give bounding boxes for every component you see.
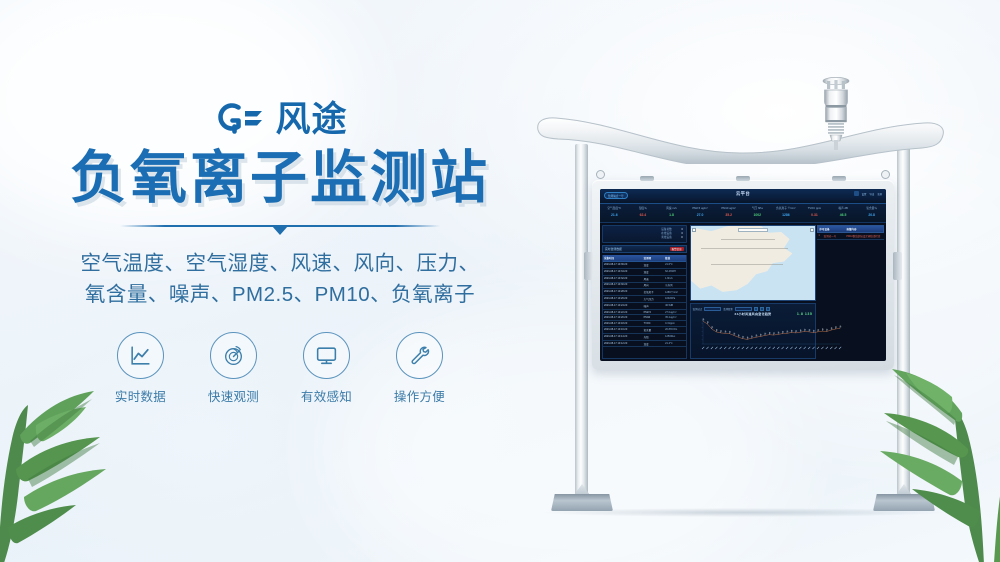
column-header: 数值 <box>664 255 685 261</box>
device-stat-box: 设备总数3在线设备3离线设备0 <box>602 225 687 243</box>
display-screen[interactable]: 监测站点一号 云平台 设置 导出 全屏 空气温度℃21.6湿度％62.4风速 m… <box>600 189 886 361</box>
metric-name: PM2.5 ug/m³ <box>686 207 715 211</box>
metric-name: 氧含量％ <box>857 207 886 211</box>
mount-tab-2 <box>736 176 750 181</box>
support-post-right <box>897 144 910 499</box>
monitor-icon <box>303 332 350 379</box>
metric-card[interactable]: 氧含量％20.8 <box>857 204 886 222</box>
table-cell: 2023-08-17 10:32:20 <box>603 276 643 282</box>
title-divider <box>120 222 440 238</box>
dashboard-body: 设备总数3在线设备3离线设备0 实时监测数据 报警信息 采集时间监测项数值202… <box>600 223 886 361</box>
feature-label: 操作方便 <box>388 386 452 405</box>
metric-card[interactable]: PM10 ug/m³35.2 <box>714 204 743 222</box>
table-cell: PM2.5 <box>643 310 664 315</box>
side-mount-left <box>584 252 593 280</box>
toolbar-label-2[interactable]: 全屏 <box>877 192 882 196</box>
wrench-icon <box>396 332 443 379</box>
chart-select-right-label: 监测要素 <box>723 307 733 311</box>
chart-query-button[interactable] <box>754 307 758 311</box>
table-cell: 噪声 <box>643 303 664 309</box>
chart-station-select[interactable] <box>704 307 721 311</box>
trend-chart-panel: 监测站点 监测要素 24小时风速风向变化趋势 1.8 135 <box>690 303 817 359</box>
table-cell: 2023-08-17 10:16:20 <box>603 327 643 333</box>
alarm-table-body[interactable]: 1监测站一号PM10数值超出设定阈值请检查 <box>817 233 884 240</box>
data-table-header-row: 采集时间监测项数值 <box>603 255 686 262</box>
table-cell: 湿度 <box>643 269 664 275</box>
map-landmass <box>690 225 817 301</box>
monitoring-station-assembly: 监测站点一号 云平台 设置 导出 全屏 空气温度℃21.6湿度％62.4风速 m… <box>520 60 990 530</box>
alarm-row[interactable]: 1监测站一号PM10数值超出设定阈值请检查 <box>817 233 884 240</box>
table-cell: 2023-08-17 10:24:20 <box>603 303 643 309</box>
feature-label: 快速观测 <box>202 386 266 405</box>
table-cell: 2023-08-17 10:20:20 <box>603 315 643 320</box>
column-header: 采集时间 <box>603 255 643 261</box>
page-title: 负氧离子监测站 <box>0 148 560 210</box>
device-stat-row: 离线设备0 <box>606 236 683 240</box>
data-table-row[interactable]: 2023-08-17 10:16:20氧含量20.8%VOL <box>603 327 686 334</box>
table-caption: 实时监测数据 <box>605 247 622 251</box>
mount-tab-3 <box>832 176 846 181</box>
device-stat-key: 离线设备 <box>661 236 671 240</box>
feature-label: 有效感知 <box>295 386 359 405</box>
table-cell: 2023-08-17 10:36:20 <box>603 262 643 268</box>
table-cell: 大气压力 <box>643 296 664 302</box>
mount-ring-left <box>596 170 605 179</box>
table-cell: 光照 <box>643 334 664 340</box>
metric-value: 62.4 <box>629 214 658 217</box>
dashboard-toolbar: 设置 导出 全屏 <box>854 191 882 196</box>
subtitle-line-1: 空气温度、空气湿度、风速、风向、压力、 <box>0 248 560 280</box>
table-cell: 20.8%VOL <box>664 327 685 333</box>
alarm-column-header: 报警内容 <box>845 226 882 232</box>
poster-canvas: 风途 负氧离子监测站 空气温度、空气湿度、风速、风向、压力、 氧含量、噪声、PM… <box>0 0 1000 562</box>
station-tag[interactable]: 监测站点一号 <box>604 192 628 199</box>
data-table-row[interactable]: 2023-08-17 10:24:20噪声46.5dB <box>603 303 686 310</box>
base-plate-left <box>551 494 613 511</box>
metric-name: 湿度％ <box>629 207 658 211</box>
metric-name: 风速 m/s <box>657 207 686 211</box>
brand-name: 风途 <box>275 102 347 137</box>
map-search-input[interactable] <box>738 228 768 232</box>
subtitle-line-2: 氧含量、噪声、PM2.5、PM10、负氧离子 <box>0 279 560 311</box>
station-map[interactable] <box>690 225 817 301</box>
table-cell: 2023-08-17 10:22:20 <box>603 310 643 315</box>
data-table-row[interactable]: 2023-08-17 10:12:20温度21.4℃ <box>603 341 686 348</box>
gear-icon[interactable] <box>854 191 859 196</box>
table-cell: 1.8m/s <box>664 276 685 282</box>
map-zoom-control[interactable] <box>692 228 696 232</box>
table-cell: 2023-08-17 10:30:20 <box>603 283 643 289</box>
metric-name: 空气温度℃ <box>600 207 629 211</box>
dashboard-header: 监测站点一号 云平台 设置 导出 全屏 <box>600 189 886 204</box>
table-cell: 35.2ug/m³ <box>664 315 685 320</box>
table-cell: 27.0ug/m³ <box>664 310 685 315</box>
metric-card[interactable]: 气压 hPa1002 <box>743 204 772 222</box>
table-cell: 风向 <box>643 283 664 289</box>
table-cell: 21.4℃ <box>664 341 685 347</box>
table-cell: PM10 <box>643 315 664 320</box>
table-cell: TVOC <box>643 321 664 326</box>
wind-trend-chart <box>693 317 843 353</box>
mount-tab-1 <box>640 176 654 181</box>
table-cell: 62.4%RH <box>664 269 685 275</box>
dashboard-title: 云平台 <box>736 191 750 197</box>
metric-value: 35.2 <box>714 214 743 217</box>
realtime-data-table[interactable]: 采集时间监测项数值2023-08-17 10:36:20温度21.6℃2023-… <box>602 255 687 359</box>
metric-card[interactable]: 噪声 dB46.5 <box>829 204 858 222</box>
brand-lockup: 风途 <box>0 96 560 142</box>
down-triangle-icon <box>272 226 288 235</box>
metric-name: 气压 hPa <box>743 207 772 211</box>
dashboard: 监测站点一号 云平台 设置 导出 全屏 空气温度℃21.6湿度％62.4风速 m… <box>600 189 886 361</box>
chart-element-select[interactable] <box>735 307 752 311</box>
feature-item-effective-sensing[interactable]: 有效感知 <box>295 332 359 405</box>
chart-refresh-button[interactable] <box>766 307 770 311</box>
chart-select-left-label: 监测站点 <box>693 307 703 311</box>
data-table-row[interactable]: 2023-08-17 10:30:20风向东南风 <box>603 283 686 290</box>
table-cell: 21.6℃ <box>664 262 685 268</box>
metric-name: 噪声 dB <box>829 207 858 211</box>
data-table-row[interactable]: 2023-08-17 10:34:20湿度62.4%RH <box>603 269 686 276</box>
mount-ring-right <box>881 170 890 179</box>
metric-value: 21.6 <box>600 214 629 217</box>
device-stat-value: 0 <box>677 236 683 240</box>
chart-toolbar: 监测站点 监测要素 <box>693 306 814 311</box>
support-post-left <box>575 144 588 499</box>
table-cell: 2023-08-17 10:12:20 <box>603 341 643 347</box>
data-table-row[interactable]: 2023-08-17 10:14:20光照12500lux <box>603 334 686 341</box>
feature-item-fast-observation[interactable]: 快速观测 <box>202 332 266 405</box>
metric-strip: 空气温度℃21.6湿度％62.4风速 m/s1.8PM2.5 ug/m³27.0… <box>600 204 886 223</box>
table-cell: 2023-08-17 10:18:20 <box>603 321 643 326</box>
metric-card[interactable]: 空气温度℃21.6 <box>600 204 629 222</box>
metric-value: 0.31 <box>800 214 829 217</box>
ultrasonic-weather-sensor-icon <box>816 74 856 155</box>
wind-g-logo-icon <box>212 98 266 141</box>
toolbar-label-1[interactable]: 导出 <box>869 192 874 196</box>
feature-list: 实时数据 快速观测 <box>0 332 560 405</box>
chart-export-button[interactable] <box>760 307 764 311</box>
feature-item-realtime-data[interactable]: 实时数据 <box>109 332 173 405</box>
table-cell: 12500lux <box>664 334 685 340</box>
alarm-cell: 监测站一号 <box>823 233 846 239</box>
table-cell: 温度 <box>643 262 664 268</box>
metric-name: TVOC ppm <box>800 207 829 211</box>
metric-card[interactable]: TVOC ppm0.31 <box>800 204 829 222</box>
map-layer-control[interactable] <box>810 228 814 232</box>
metric-name: 负氧离子 个/cm³ <box>772 207 801 211</box>
alarm-column-header: 设备 <box>824 226 846 232</box>
feature-label: 实时数据 <box>109 386 173 405</box>
table-cell: 风速 <box>643 276 664 282</box>
metric-card[interactable]: 负氧离子 个/cm³1286 <box>772 204 801 222</box>
metric-card[interactable]: 风速 m/s1.8 <box>657 204 686 222</box>
table-cell: 2023-08-17 10:34:20 <box>603 269 643 275</box>
hero-text-panel: 风途 负氧离子监测站 空气温度、空气湿度、风速、风向、压力、 氧含量、噪声、PM… <box>0 96 560 405</box>
column-header: 监测项 <box>643 255 664 261</box>
feature-item-easy-operation[interactable]: 操作方便 <box>388 332 452 405</box>
alarm-badge[interactable]: 报警信息 <box>670 247 684 252</box>
metric-value: 1002 <box>743 214 772 217</box>
data-table-row[interactable]: 2023-08-17 10:26:20大气压力1002hPa <box>603 296 686 303</box>
chart-readout: 1.8 135 <box>797 312 813 316</box>
metric-value: 46.5 <box>829 214 858 217</box>
dashboard-center-column: 监测站点 监测要素 24小时风速风向变化趋势 1.8 135 <box>689 223 818 361</box>
metric-name: PM10 ug/m³ <box>714 207 743 211</box>
table-cell: 2023-08-17 10:26:20 <box>603 296 643 302</box>
metric-card[interactable]: PM2.5 ug/m³27.0 <box>686 204 715 222</box>
metric-card[interactable]: 湿度％62.4 <box>629 204 658 222</box>
table-cell: 1002hPa <box>664 296 685 302</box>
table-cell: 0.31ppm <box>664 321 685 326</box>
metric-value: 27.0 <box>686 214 715 217</box>
alarm-cell: PM10数值超出设定阈值请检查 <box>845 233 884 239</box>
metric-value: 20.8 <box>857 214 886 217</box>
metric-value: 1.8 <box>657 214 686 217</box>
data-table-row[interactable]: 2023-08-17 10:32:20风速1.8m/s <box>603 276 686 283</box>
table-cell: 东南风 <box>664 283 685 289</box>
chart-title: 24小时风速风向变化趋势 <box>693 312 814 316</box>
data-table-row[interactable]: 2023-08-17 10:36:20温度21.6℃ <box>603 262 686 269</box>
radar-observe-icon <box>210 332 257 379</box>
table-cell: 2023-08-17 10:28:20 <box>603 289 643 295</box>
data-table-row[interactable]: 2023-08-17 10:28:20负氧离子1286个/cm³ <box>603 289 686 296</box>
table-cell: 2023-08-17 10:14:20 <box>603 334 643 340</box>
table-cell: 温度 <box>643 341 664 347</box>
alarm-table-header: 序号设备报警内容 <box>817 225 884 233</box>
metric-value: 1286 <box>772 214 801 217</box>
table-cell: 1286个/cm³ <box>664 289 685 295</box>
table-cell: 氧含量 <box>643 327 664 333</box>
toolbar-label-0[interactable]: 设置 <box>862 192 867 196</box>
table-cell: 负氧离子 <box>643 289 664 295</box>
wave-canopy-icon <box>530 108 950 169</box>
dashboard-left-column: 设备总数3在线设备3离线设备0 实时监测数据 报警信息 采集时间监测项数值202… <box>600 223 689 361</box>
line-chart-icon <box>117 332 164 379</box>
outdoor-display-frame: 监测站点一号 云平台 设置 导出 全屏 空气温度℃21.6湿度％62.4风速 m… <box>592 180 894 370</box>
base-plate-right <box>873 494 935 511</box>
table-cell: 46.5dB <box>664 303 685 309</box>
side-mount-right <box>893 252 902 280</box>
table-caption-bar: 实时监测数据 报警信息 <box>602 245 687 254</box>
